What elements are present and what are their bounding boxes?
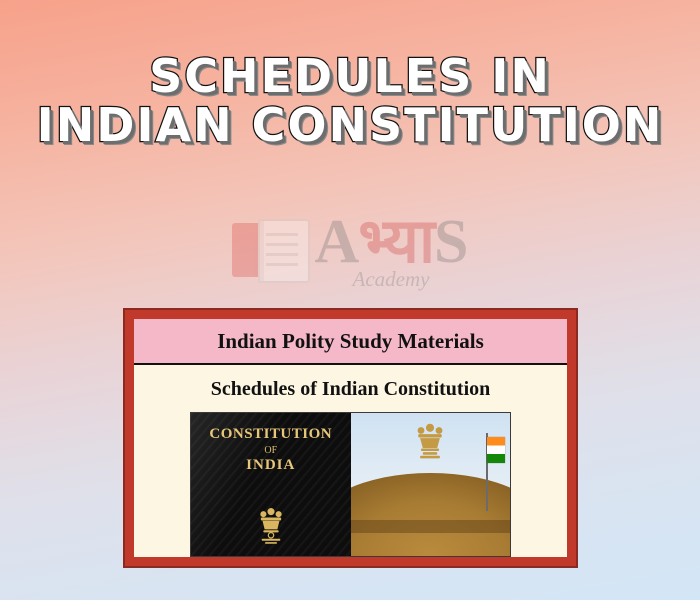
constitution-book-photo: CONSTITUTION OF INDIA [191, 413, 351, 556]
watermark-brand-s: S [434, 208, 467, 276]
page-title-line-2: INDIAN CONSTITUTION [0, 101, 700, 150]
watermark-brand-a: A [314, 208, 358, 276]
card-subtitle: Schedules of Indian Constitution [134, 365, 567, 412]
parliament-dome-photo [351, 413, 511, 556]
page-title: SCHEDULES IN INDIAN CONSTITUTION [0, 52, 700, 150]
book-cover-line-1: CONSTITUTION [191, 426, 351, 443]
ashoka-emblem-icon [412, 419, 448, 469]
card-banner-text: Indian Polity Study Materials [138, 329, 563, 354]
watermark-brand: Aभ्याS [314, 211, 467, 273]
page-title-line-1: SCHEDULES IN [0, 52, 700, 101]
card-photo-strip: CONSTITUTION OF INDIA [190, 412, 511, 557]
watermark: Aभ्याS Academy [0, 190, 700, 310]
open-book-icon [232, 219, 306, 281]
poster-page: Aभ्याS Academy SCHEDULES IN INDIAN CONST… [0, 0, 700, 600]
book-cover-line-3: INDIA [191, 457, 351, 474]
indian-flag-icon [487, 437, 505, 463]
card-subtitle-text: Schedules of Indian Constitution [138, 378, 563, 401]
watermark-tagline: Academy [314, 269, 467, 290]
ashoka-emblem-icon [254, 504, 288, 548]
book-cover-line-2: OF [191, 445, 351, 456]
card-banner: Indian Polity Study Materials [134, 319, 567, 365]
watermark-brand-hindi: भ्या [358, 208, 434, 276]
study-material-card: Indian Polity Study Materials Schedules … [123, 308, 578, 568]
